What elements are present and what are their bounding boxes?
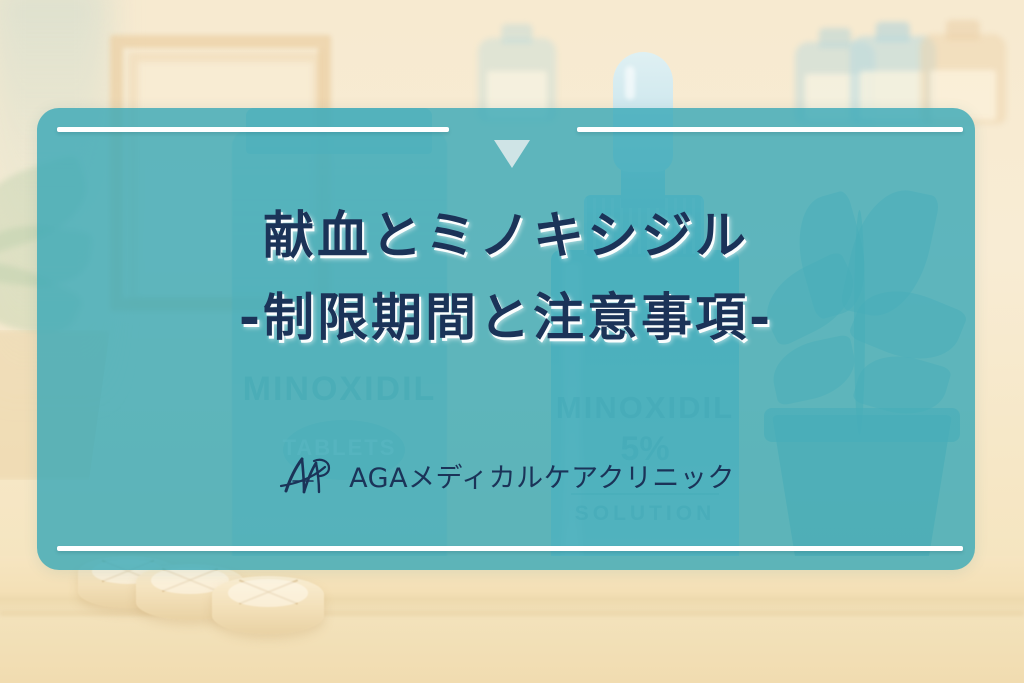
divider-rule-bottom: [57, 546, 963, 551]
tablet: [212, 576, 324, 634]
page-title: 献血とミノキシジル -制限期間と注意事項-: [37, 196, 975, 360]
clinic-logo: AGAメディカルケアクリニック: [37, 455, 975, 495]
title-line-1: 献血とミノキシジル: [37, 196, 975, 278]
divider-rule-right: [577, 127, 963, 132]
clinic-logo-text: AGAメディカルケアクリニック: [349, 456, 735, 495]
triangle-down-icon: [494, 140, 530, 168]
dropper-bulb-gloss: [625, 66, 635, 100]
divider-rule-left: [57, 127, 449, 132]
aga-monogram-icon: [277, 455, 335, 495]
hero-banner: MINOXIDIL TABLETS MINOXIDIL 5% SOLUTION: [0, 0, 1024, 683]
title-line-2: -制限期間と注意事項-: [37, 278, 975, 360]
